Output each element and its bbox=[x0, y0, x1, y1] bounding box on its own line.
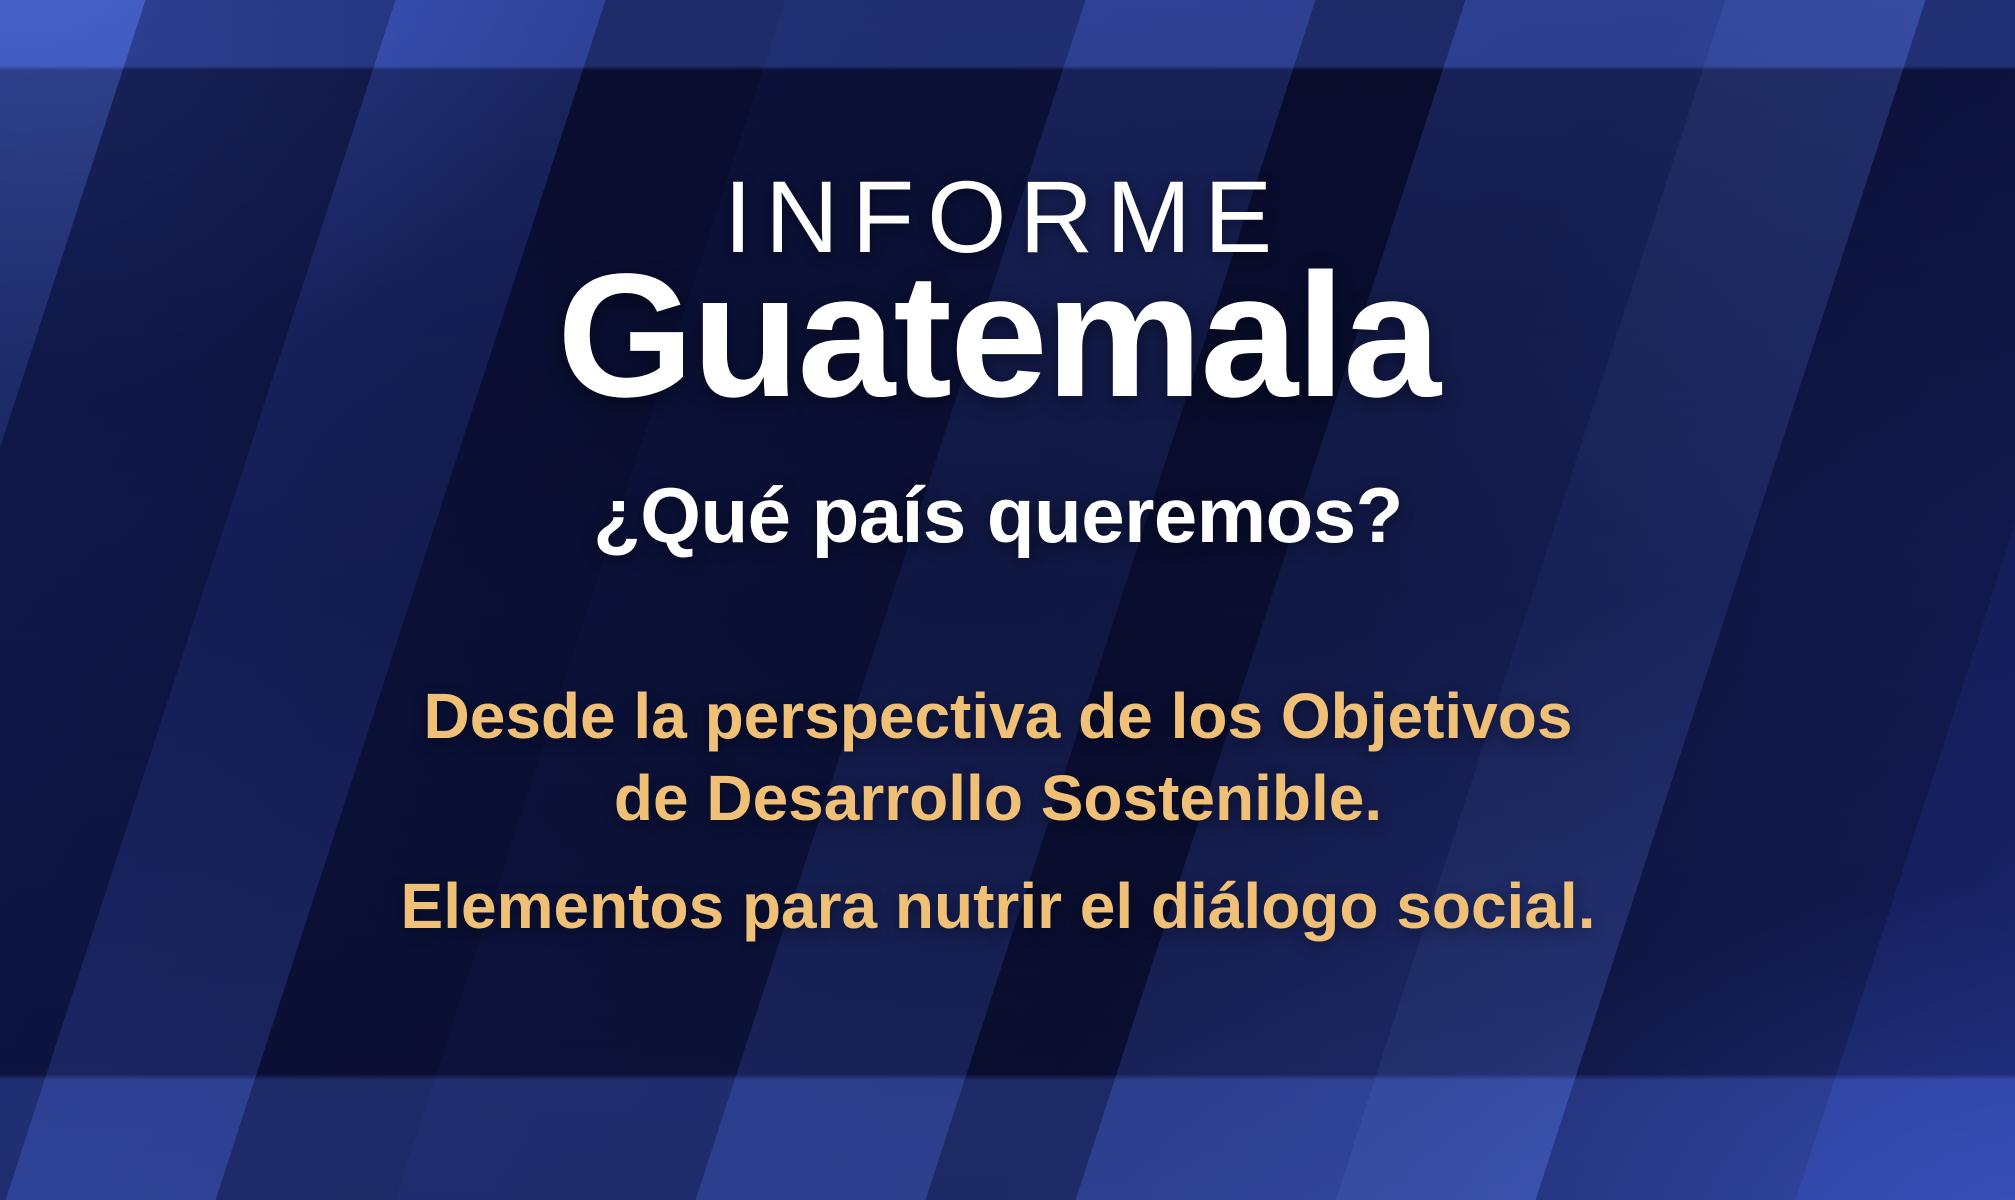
lede-paragraph: Desde la perspectiva de los Objetivos de… bbox=[0, 676, 1996, 840]
title-content-block: INFORME Guatemala ¿Qué país queremos? De… bbox=[0, 0, 1996, 1200]
page-title: Guatemala bbox=[0, 248, 1996, 424]
title-slide: INFORME Guatemala ¿Qué país queremos? De… bbox=[0, 0, 2015, 1200]
lede-line-2: de Desarrollo Sostenible. bbox=[0, 758, 1996, 840]
tagline: Elementos para nutrir el diálogo social. bbox=[0, 868, 1996, 945]
lede-line-1: Desde la perspectiva de los Objetivos bbox=[0, 676, 1996, 758]
page-subtitle: ¿Qué país queremos? bbox=[0, 476, 1996, 554]
